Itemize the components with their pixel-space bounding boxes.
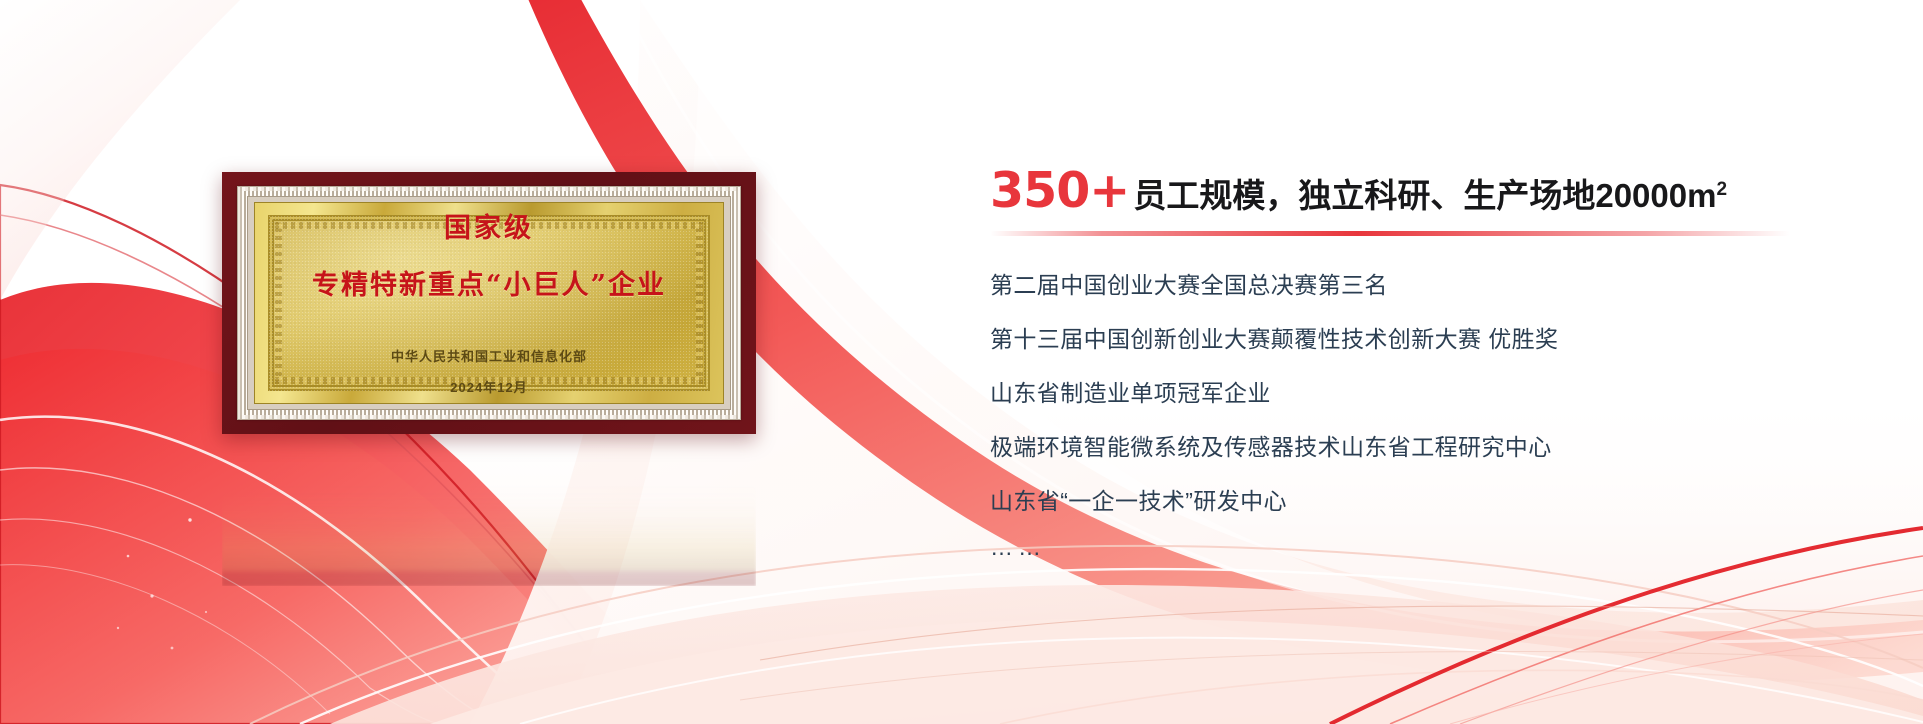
headline-superscript: 2	[1716, 179, 1727, 201]
plaque-reflection	[222, 436, 756, 586]
award-plaque: 国家级 专精特新重点“小巨人”企业 中华人民共和国工业和信息化部 2024年12…	[222, 172, 756, 434]
achievement-list: 第二届中国创业大赛全国总决赛第三名 第十三届中国创新创业大赛颠覆性技术创新大赛 …	[990, 274, 1870, 561]
headline-number: 350+	[990, 166, 1129, 215]
headline: 350+员工规模，独立科研、生产场地20000m2	[990, 166, 1870, 217]
plaque-date: 2024年12月	[450, 377, 527, 396]
plaque-text-block: 国家级 专精特新重点“小巨人”企业 中华人民共和国工业和信息化部 2024年12…	[222, 172, 756, 434]
list-item: 山东省制造业单项冠军企业	[990, 382, 1870, 405]
headline-underline	[990, 231, 1790, 236]
plaque-issuer: 中华人民共和国工业和信息化部	[391, 346, 587, 365]
list-item: 极端环境智能微系统及传感器技术山东省工程研究中心	[990, 436, 1870, 459]
list-item: 第二届中国创业大赛全国总决赛第三名	[990, 274, 1870, 297]
list-ellipsis: ……	[990, 534, 1870, 561]
banner-root: 国家级 专精特新重点“小巨人”企业 中华人民共和国工业和信息化部 2024年12…	[0, 0, 1923, 724]
headline-text: 员工规模，独立科研、生产场地20000m	[1133, 169, 1716, 217]
plaque-outer-frame: 国家级 专精特新重点“小巨人”企业 中华人民共和国工业和信息化部 2024年12…	[222, 172, 756, 434]
plaque-subtitle: 专精特新重点“小巨人”企业	[312, 263, 666, 302]
list-item: 山东省“一企一技术”研发中心	[990, 490, 1870, 513]
plaque-title: 国家级	[444, 206, 534, 245]
content-panel: 350+员工规模，独立科研、生产场地20000m2 第二届中国创业大赛全国总决赛…	[990, 166, 1870, 561]
list-item: 第十三届中国创新创业大赛颠覆性技术创新大赛 优胜奖	[990, 328, 1870, 351]
